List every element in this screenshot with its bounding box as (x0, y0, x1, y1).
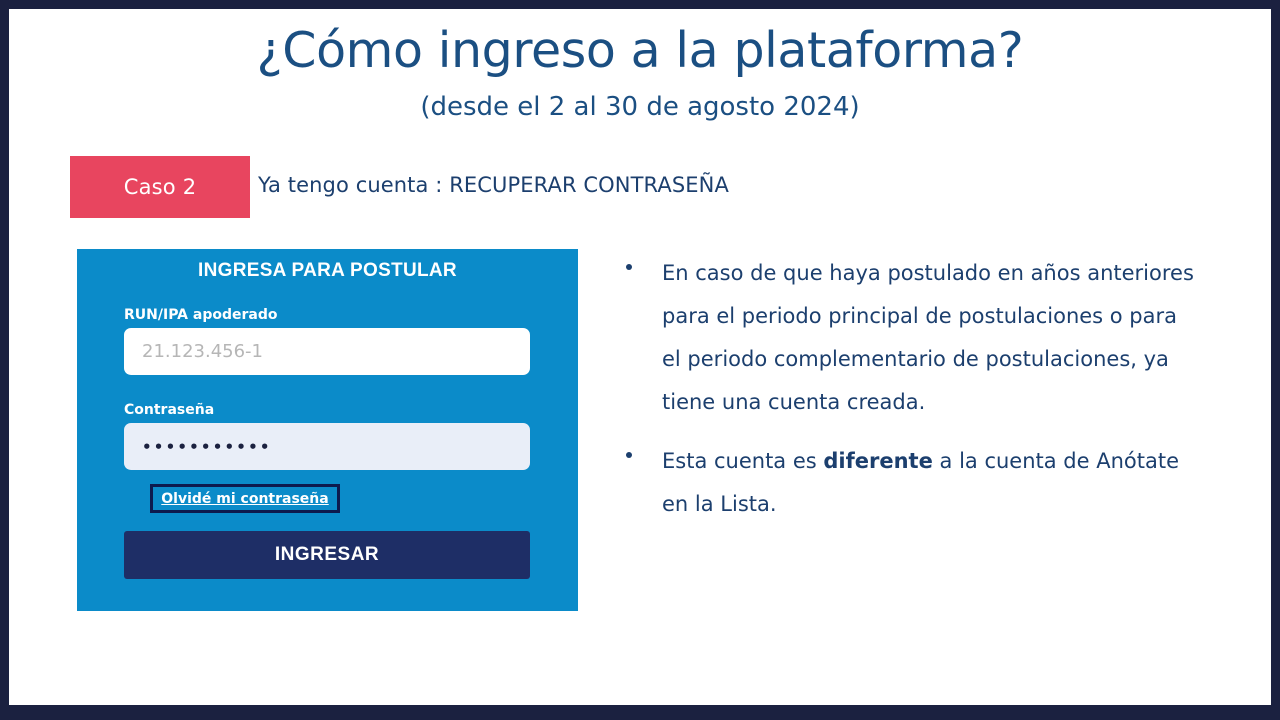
slide-canvas: ¿Cómo ingreso a la plataforma? (desde el… (0, 0, 1280, 720)
slide-frame-top (0, 0, 1280, 9)
page-subtitle: (desde el 2 al 30 de agosto 2024) (0, 92, 1280, 122)
submit-button[interactable]: INGRESAR (124, 531, 530, 579)
password-input[interactable]: ••••••••••• (124, 423, 530, 470)
forgot-password-highlight[interactable]: Olvidé mi contraseña (150, 484, 340, 513)
list-item-text-before: Esta cuenta es (662, 449, 823, 473)
page-title: ¿Cómo ingreso a la plataforma? (0, 22, 1280, 79)
list-item-text-emphasis: diferente (823, 449, 932, 473)
run-input[interactable]: 21.123.456-1 (124, 328, 530, 375)
bullet-icon (626, 264, 632, 270)
notes-list: En caso de que haya postulado en años an… (620, 252, 1200, 542)
forgot-password-link[interactable]: Olvidé mi contraseña (161, 491, 328, 507)
bullet-icon (626, 452, 632, 458)
slide-frame-bottom (0, 705, 1280, 720)
list-item: En caso de que haya postulado en años an… (620, 252, 1200, 424)
login-card-heading: INGRESA PARA POSTULAR (77, 260, 578, 282)
list-item-text-before: En caso de que haya postulado en años an… (662, 261, 1194, 414)
list-item: Esta cuenta es diferente a la cuenta de … (620, 440, 1200, 526)
list-item-text: Esta cuenta es diferente a la cuenta de … (662, 449, 1179, 516)
case-badge: Caso 2 (70, 156, 250, 218)
password-field-label: Contraseña (124, 402, 214, 418)
list-item-text: En caso de que haya postulado en años an… (662, 261, 1194, 414)
case-description: Ya tengo cuenta : RECUPERAR CONTRASEÑA (258, 173, 729, 197)
run-field-label: RUN/IPA apoderado (124, 307, 277, 323)
